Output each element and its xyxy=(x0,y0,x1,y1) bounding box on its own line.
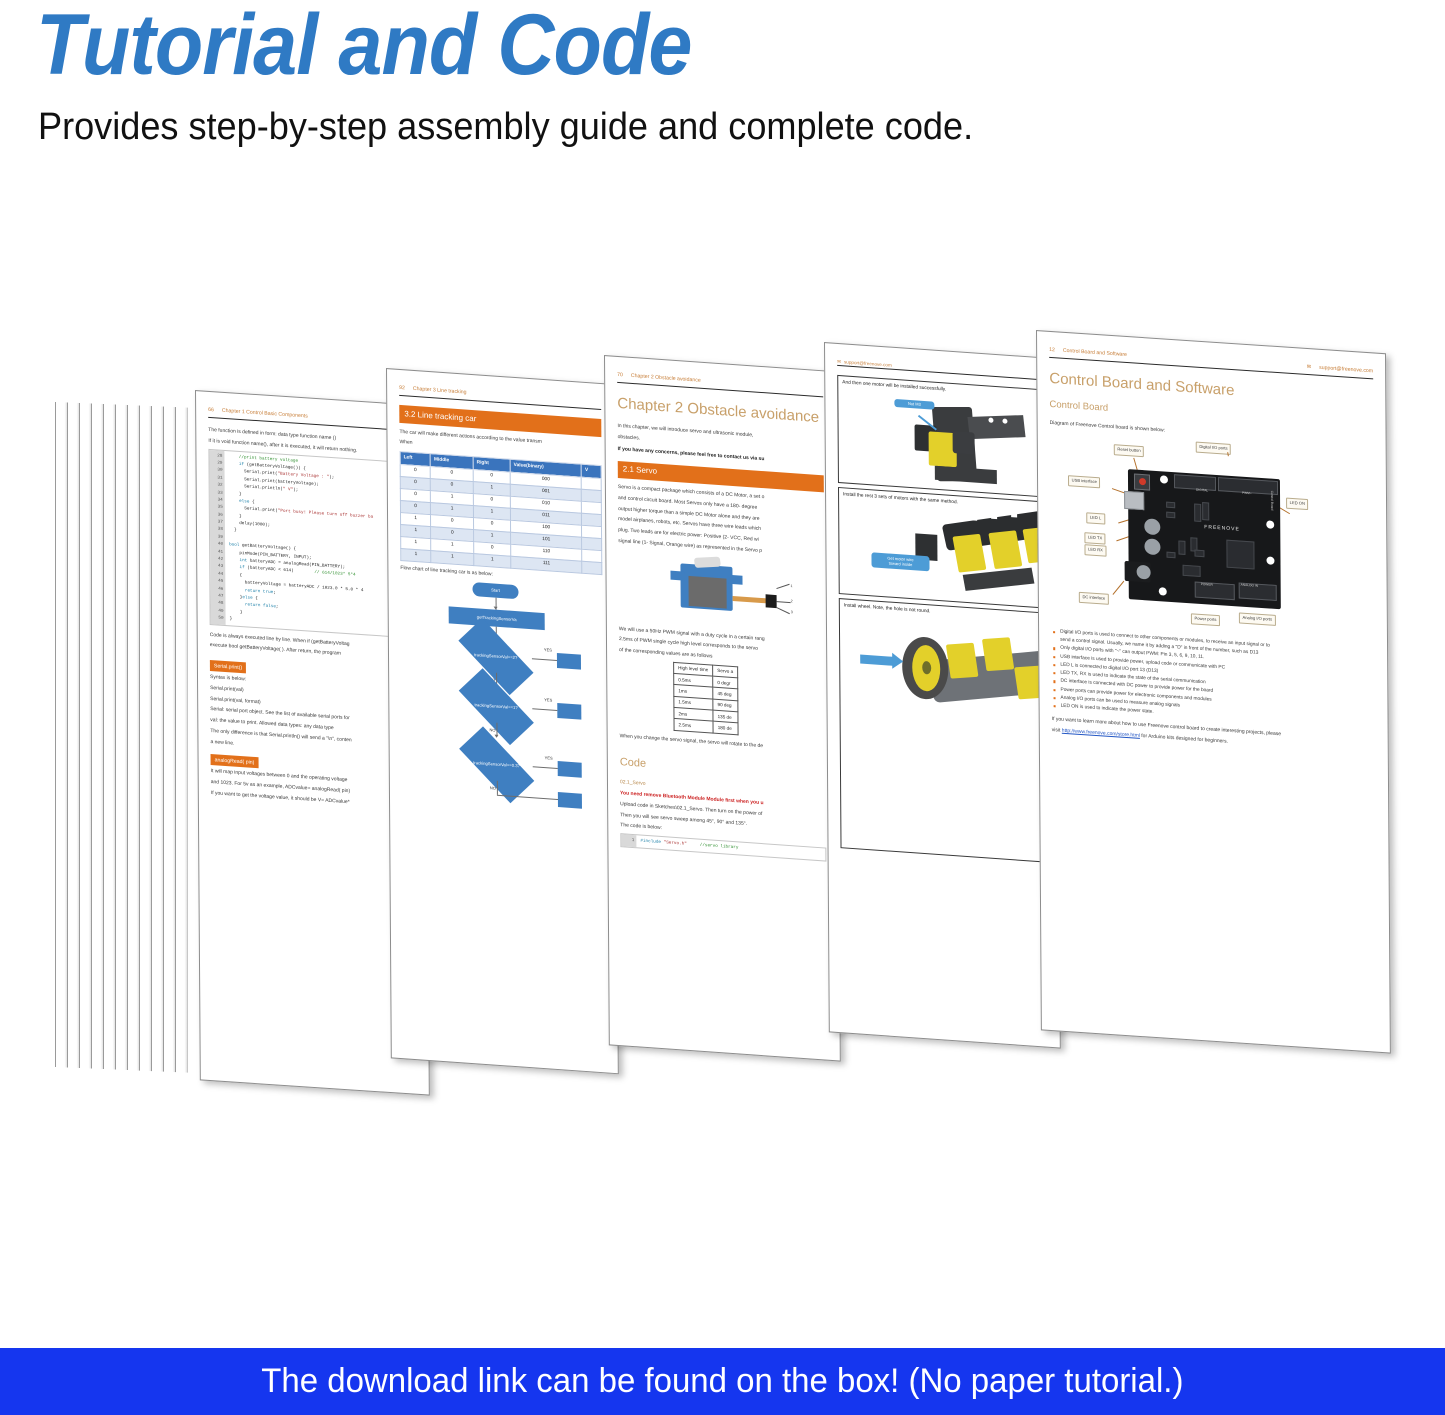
label-led-rx: LED RX xyxy=(1084,544,1106,557)
label-led-tx: LED TX xyxy=(1084,532,1106,545)
label-digital-io-ports: Digital I/O ports xyxy=(1196,441,1231,455)
header-block: Tutorial and Code Provides step-by-step … xyxy=(0,0,1445,175)
label-power-ports: Power ports xyxy=(1191,613,1220,626)
table-cell: 1 xyxy=(401,548,431,562)
freenove-store-link[interactable]: http://www.freenove.com/store.html xyxy=(1062,727,1140,738)
assembly-panel-1: And then one motor will be installed suc… xyxy=(837,375,1044,497)
page-number: 92 xyxy=(399,384,405,392)
label-analog-io-ports: Analog I/O ports xyxy=(1239,612,1276,626)
panel-3-photo xyxy=(844,610,1041,744)
document-spread: 66 Chapter 1 Control Basic Components Th… xyxy=(0,330,1445,1130)
page-assembly[interactable]: ✉ support@freenove.com And then one moto… xyxy=(824,342,1061,1049)
yes-label-1: YES xyxy=(544,647,552,654)
mail-icon: ✉ xyxy=(1307,363,1311,371)
chapter-title: Chapter 2 Obstacle avoidance xyxy=(617,392,823,430)
flow-decision-1-label: trackingSensorVal==2? xyxy=(460,652,532,662)
table-cell: 1 xyxy=(474,553,511,568)
bottom-banner: The download link can be found on the bo… xyxy=(0,1348,1445,1415)
label-usb-interface: USB interface xyxy=(1068,475,1101,489)
code-block: 2829303132333435363738394041424344454647… xyxy=(208,448,413,638)
running-head-text: Control Board and Software xyxy=(1063,347,1127,359)
servo-angle-table: High level time Servo a 0.5ms0 degr1ms45… xyxy=(673,662,738,735)
callout-motor-wire-line2: toward inside xyxy=(889,561,913,568)
table-cell: 1 xyxy=(431,550,474,565)
silk-power: POWER xyxy=(1201,582,1213,588)
silk-digital: DIGITAL xyxy=(1196,487,1208,493)
control-board-bullets: Digital I/O ports is used to connect to … xyxy=(1051,629,1376,732)
page-obstacle-avoidance[interactable]: 70 Chapter 2 Obstacle avoidance Chapter … xyxy=(604,355,841,1062)
page-control-board[interactable]: 12 Control Board and Software ✉ support@… xyxy=(1036,330,1391,1054)
board-usb-port xyxy=(1124,491,1144,510)
after-servo-table: When you change the servo signal, the se… xyxy=(620,733,826,755)
page-number: 70 xyxy=(617,371,623,379)
assembly-panel-3: Install wheel. Note, the hole is not rou… xyxy=(839,598,1047,863)
silk-side-text: Control Board xyxy=(1269,490,1274,510)
flow-decision-3-label: trackingSensorVal==0.3? xyxy=(461,760,533,770)
board-reset-button xyxy=(1134,473,1150,490)
control-board-diagram: Reset button Digital I/O ports USB inter… xyxy=(1050,432,1375,646)
page-line-tracking[interactable]: 92 Chapter 3 Line tracking 3.2 Line trac… xyxy=(386,368,619,1074)
assembly-panel-2: Install the rest 3 sets of motors with t… xyxy=(838,487,1045,609)
table-cell xyxy=(582,561,602,574)
code-text: //print battery voltage if (getBatteryVo… xyxy=(224,451,412,637)
yes-label-2: YES xyxy=(544,698,552,705)
panel-1-photo: Nut M3 xyxy=(842,387,1039,493)
mail-icon: ✉ xyxy=(837,358,841,365)
servo-illustration: 1 2 3 xyxy=(618,551,824,635)
no-label-3: NO xyxy=(490,786,496,793)
silk-analog-in: ANALOG IN xyxy=(1241,582,1258,588)
line-tracking-flowchart: Start getTrackingSensorVa trackingSensor… xyxy=(400,575,603,757)
flow-yes-branch-1 xyxy=(557,653,581,670)
page-number: 66 xyxy=(208,406,214,414)
panel-2-photo: Get motor wire toward inside xyxy=(843,498,1040,604)
callout-nut-m3: Nut M3 xyxy=(894,398,934,410)
board-dc-jack xyxy=(1125,561,1151,583)
label-led-on: LED ON xyxy=(1286,497,1309,510)
serial-print-tag: Serial.print() xyxy=(210,660,246,673)
page-title: Tutorial and Code xyxy=(36,0,691,95)
servo-code-line-numbers: 1 xyxy=(621,834,636,846)
line-tracking-table: Left Middle Right Value(binary) V 000000… xyxy=(400,451,603,575)
flow-yes-branch-2 xyxy=(557,703,581,720)
bottom-banner-text: The download link can be found on the bo… xyxy=(261,1362,1183,1401)
flow-yes-branch-3 xyxy=(558,761,582,778)
page-stack-edges xyxy=(55,402,195,1073)
flow-decision-2-label: trackingSensorVal==1? xyxy=(460,702,532,712)
page-subtitle: Provides step-by-step assembly guide and… xyxy=(38,106,973,149)
analogread-tag: analogRead( pin) xyxy=(211,754,259,768)
silk-pwm: PWM~ xyxy=(1242,490,1252,496)
label-reset-button: Reset button xyxy=(1114,444,1144,458)
page-number: 12 xyxy=(1049,346,1055,354)
label-led-l: LED L xyxy=(1086,512,1105,525)
running-head-text: Chapter 3 Line tracking xyxy=(413,385,467,397)
running-head-email-row: ✉ support@freenove.com xyxy=(837,358,1043,372)
footer-prefix: visit xyxy=(1052,727,1062,734)
yes-label-3: YES xyxy=(545,756,553,763)
support-email: support@freenove.com xyxy=(1319,364,1373,376)
label-dc-interface: DC interface xyxy=(1079,592,1109,606)
callout-motor-wire: Get motor wire toward inside xyxy=(871,552,929,571)
table-cell: 2.5ms xyxy=(674,719,713,733)
table-cell: 180 de xyxy=(713,722,738,735)
code-line-numbers: 2829303132333435363738394041424344454647… xyxy=(209,450,225,625)
flow-default-branch xyxy=(558,792,582,809)
